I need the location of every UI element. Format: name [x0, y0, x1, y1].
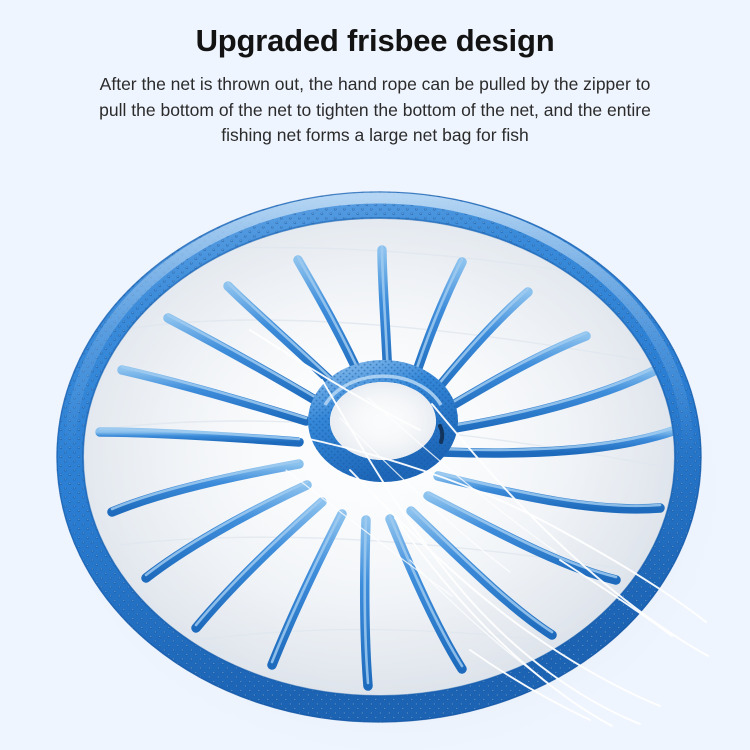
description-line-3: fishing net forms a large net bag for fi…	[30, 123, 720, 149]
description-paragraph: After the net is thrown out, the hand ro…	[30, 60, 720, 149]
promo-page: Upgraded frisbee design After the net is…	[0, 0, 750, 750]
page-title: Upgraded frisbee design	[0, 0, 750, 60]
description-line-1: After the net is thrown out, the hand ro…	[30, 72, 720, 98]
description-line-2: pull the bottom of the net to tighten th…	[30, 98, 720, 124]
text-block: Upgraded frisbee design After the net is…	[0, 0, 750, 149]
